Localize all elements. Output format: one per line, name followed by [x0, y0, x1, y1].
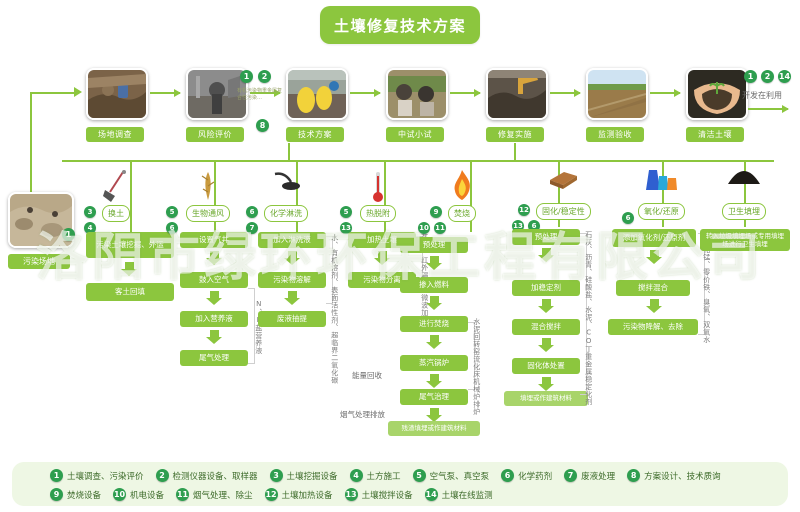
technique-2-badge-b: 7 [246, 215, 258, 234]
legend-row-2: 9焚烧设备 10机电设备 11烟气处理、除尘 12土壤加热设备 13土壤搅拌设备… [50, 488, 505, 501]
sprinkler-icon [271, 170, 301, 204]
legend-badge-13: 13 [345, 488, 358, 501]
soil-pile-icon [726, 168, 762, 190]
flow-arrow-6-1 [646, 299, 662, 313]
technique-5[interactable]: 固化/稳定性 [536, 203, 591, 220]
legend-item-12: 12土壤加热设备 [265, 488, 333, 501]
process-label-6: 清洁土壤 [686, 127, 744, 142]
legend-item-4: 4土方施工 [350, 469, 401, 482]
technique-label-1: 生物通风 [186, 205, 230, 222]
arrow-0-1 [150, 92, 180, 94]
flow-5-2: 混合搅拌 [512, 319, 580, 335]
badge-reuse-2: 2 [761, 70, 774, 83]
flow-arrow-3-0 [374, 251, 390, 265]
bus-feed-from-repair [288, 143, 290, 161]
technique-1-side-note: N、P盐营养液 [254, 300, 262, 355]
legend-text-6: 化学药剂 [518, 470, 552, 482]
legend-badge-9: 9 [50, 488, 63, 501]
flow-7-0: 转入垃圾填埋场或专用填埋场进行卫生填埋 [700, 229, 790, 251]
legend-text-1: 土壤调查、污染评价 [67, 470, 144, 482]
process-step-6[interactable]: 清洁土壤 [686, 68, 744, 142]
badge-6d: 6 [622, 212, 634, 224]
technique-label-5: 固化/稳定性 [536, 203, 591, 220]
legend-badge-11: 11 [176, 488, 189, 501]
flow-2-2: 废液抽提 [258, 311, 326, 327]
flow-0-1: 客土回填 [86, 283, 174, 301]
process-label-0: 场地调查 [86, 127, 144, 142]
page-title: 土壤修复技术方案 [320, 6, 480, 44]
legend-badge-5: 5 [413, 469, 426, 482]
flow-arrow-1-2 [206, 330, 222, 344]
polluted-site[interactable]: 污染场地 [8, 192, 70, 269]
legend-item-1: 1土壤调查、污染评价 [50, 469, 144, 482]
legend-badge-4: 4 [350, 469, 363, 482]
flow-arrow-5-1 [538, 299, 554, 313]
flow-arrow-5-2 [538, 338, 554, 352]
diagram-canvas: 土壤修复技术方案 场地调查 风险评价 1 2 有机污染物重金属复合性污染… 8 … [0, 0, 800, 512]
reuse-label: 开发在利用 [742, 90, 782, 101]
legend-item-8: 8方案设计、技术质询 [627, 469, 721, 482]
technique-4-note-gas: 烟气处理排放 [340, 409, 385, 420]
technique-2[interactable]: 化学淋洗 [264, 205, 308, 222]
flow-arrow-1-1 [206, 291, 222, 305]
legend-badge-3: 3 [270, 469, 283, 482]
flow-0-0: 污染土壤挖掘、外运 [86, 232, 174, 258]
process-thumb-6 [686, 68, 748, 120]
technique-6[interactable]: 氧化/还原 [638, 203, 685, 220]
legend-row-1: 1土壤调查、污染评价 2检测仪器设备、取样器 3土壤挖掘设备 4土方施工 5空气… [50, 469, 733, 482]
badge-6: 6 [166, 222, 178, 234]
flow-arrow-4-0 [426, 256, 442, 270]
flow-arrow-2-1 [284, 291, 300, 305]
technique-4-badge-b: 10 [418, 215, 430, 234]
flow-5-4: 填埋或作建筑材料 [504, 391, 588, 406]
process-thumb-4 [486, 68, 548, 120]
flow-arrow-4-3 [426, 374, 442, 388]
badge-reuse-14: 14 [778, 70, 791, 83]
flow-2-0: 加入淋洗液 [258, 232, 326, 248]
arrow-head-site [74, 87, 82, 97]
badge-note-1: 1 [240, 70, 253, 83]
technique-1[interactable]: 生物通风 [186, 205, 230, 222]
flow-6-1: 搅拌混合 [616, 280, 690, 296]
process-thumb-5 [586, 68, 648, 120]
arrow-3-4 [450, 92, 480, 94]
process-label-2: 技术方案 [286, 127, 344, 142]
flow-arrow-2-0 [284, 251, 300, 265]
legend-badge-7: 7 [564, 469, 577, 482]
legend-text-13: 土壤搅拌设备 [362, 489, 413, 501]
flow-4-3: 蒸汽锅炉 [400, 355, 468, 371]
legend-badge-8: 8 [627, 469, 640, 482]
legend-badge-10: 10 [113, 488, 126, 501]
legend-item-5: 5空气泵、真空泵 [413, 469, 490, 482]
legend-item-6: 6化学药剂 [501, 469, 552, 482]
flame-icon [451, 170, 473, 204]
process-note-text: 有机污染物重金属复合性污染… [237, 88, 283, 101]
flow-4-4: 尾气治理 [400, 389, 468, 405]
legend-item-13: 13土壤搅拌设备 [345, 488, 413, 501]
flow-5-0: 预处理 [512, 229, 580, 245]
process-note-badge-8: 8 [256, 113, 269, 132]
flow-arrow-5-3 [538, 377, 554, 391]
process-step-1[interactable]: 风险评价 [186, 68, 244, 142]
flow-1-2: 加入营养液 [180, 311, 248, 327]
flow-arrow-5-0 [538, 248, 554, 262]
technique-5-side-note: 石灰、沥青、硅酸盐、水泥、CO丁重金属稳定化剂 [584, 231, 592, 406]
flow-6-0: 添加氧化剂/还原剂 [612, 229, 696, 247]
technique-2-side-note: 水、有机溶剂、表面活性剂、超临界二氧化碳 [330, 234, 338, 384]
process-label-3: 中试小试 [386, 127, 444, 142]
technique-label-2: 化学淋洗 [264, 205, 308, 222]
flow-5-3: 固化体处置 [512, 358, 580, 374]
flow-5-1: 加稳定剂 [512, 280, 580, 296]
legend-item-3: 3土壤挖掘设备 [270, 469, 338, 482]
process-thumb-2 [286, 68, 348, 120]
flow-2-1: 污染物溶解 [258, 272, 326, 288]
flow-arrow-4-2 [426, 335, 442, 349]
badge-note-2: 2 [258, 70, 271, 83]
legend-text-14: 土壤在线监测 [442, 489, 493, 501]
flow-arrow-1-0 [206, 251, 222, 265]
technique-4-note-energy: 能量回收 [352, 370, 382, 381]
technique-1-badge-b: 6 [166, 215, 178, 234]
flow-arrow-0-0 [121, 262, 137, 276]
process-note-badges-top: 1 2 [240, 70, 271, 83]
process-step-3[interactable]: 中试小试 [386, 68, 444, 142]
badge-10: 10 [418, 222, 430, 234]
legend-item-7: 7废液处理 [564, 469, 615, 482]
legend-text-4: 土方施工 [367, 470, 401, 482]
badge-note-8: 8 [256, 119, 269, 132]
technique-4-badge-c: 11 [434, 215, 446, 234]
flow-arrow-4-1 [426, 296, 442, 310]
legend-badge-6: 6 [501, 469, 514, 482]
site-label: 污染场地 [8, 254, 70, 269]
technique-3[interactable]: 热脱附 [360, 205, 396, 222]
process-label-5: 监测验收 [586, 127, 644, 142]
chemicals-icon [643, 168, 679, 196]
process-label-1: 风险评价 [186, 127, 244, 142]
root-icon [199, 170, 217, 206]
flow-arrow-4-4 [426, 408, 442, 422]
legend-item-11: 11烟气处理、除尘 [176, 488, 253, 501]
site-badge: 1 [62, 222, 75, 241]
legend-text-2: 检测仪器设备、取样器 [173, 470, 258, 482]
technique-4[interactable]: 焚烧 [448, 205, 476, 222]
flow-1-3: 尾气处理 [180, 350, 248, 366]
legend-panel: 1土壤调查、污染评价 2检测仪器设备、取样器 3土壤挖掘设备 4土方施工 5空气… [12, 462, 788, 506]
legend-text-8: 方案设计、技术质询 [644, 470, 721, 482]
arrow-5-6 [650, 92, 680, 94]
legend-badge-12: 12 [265, 488, 278, 501]
process-step-4[interactable]: 修复实施 [486, 68, 544, 142]
technique-4-side-note: 水泥回转窑流化床机械炉排炉 [472, 318, 480, 416]
legend-item-10: 10机电设备 [113, 488, 164, 501]
flow-6-2: 污染物降解、去除 [608, 319, 698, 335]
flow-arrow-6-0 [646, 250, 662, 264]
badge-11: 11 [434, 222, 446, 234]
technique-label-7: 卫生填埋 [722, 203, 766, 220]
process-step-0[interactable]: 场地调查 [86, 68, 144, 142]
process-step-2[interactable]: 技术方案 [286, 68, 344, 142]
arrow-4-5 [550, 92, 580, 94]
bus-feed-from-implement [514, 143, 516, 161]
legend-text-7: 废液处理 [581, 470, 615, 482]
legend-text-5: 空气泵、真空泵 [430, 470, 490, 482]
brick-icon [548, 168, 578, 194]
technique-label-6: 氧化/还原 [638, 203, 685, 220]
technique-label-0: 换土 [102, 205, 130, 222]
process-label-4: 修复实施 [486, 127, 544, 142]
legend-text-11: 烟气处理、除尘 [193, 489, 253, 501]
flow-4-5: 残渣填埋或作建筑材料 [388, 421, 480, 436]
connector-site-right [30, 92, 78, 94]
process-thumb-3 [386, 68, 448, 120]
technique-bus-line [62, 160, 774, 162]
badge-7: 7 [246, 222, 258, 234]
legend-text-10: 机电设备 [130, 489, 164, 501]
flow-1-0: 设置气井 [180, 232, 248, 248]
legend-text-9: 焚烧设备 [67, 489, 101, 501]
flow-1-1: 鼓入空气 [180, 272, 248, 288]
technique-7[interactable]: 卫生填埋 [722, 203, 766, 220]
legend-text-12: 土壤加热设备 [282, 489, 333, 501]
legend-item-2: 2检测仪器设备、取样器 [156, 469, 258, 482]
arrow-reuse [748, 108, 788, 110]
flow-4-1: 掺入燃料 [400, 277, 468, 293]
thermometer-icon [371, 170, 385, 208]
legend-badge-14: 14 [425, 488, 438, 501]
flow-4-0: 预处理 [400, 237, 468, 253]
shovel-icon [101, 170, 131, 206]
technique-6-badge-a: 6 [622, 205, 634, 224]
arrow-2-3 [350, 92, 380, 94]
legend-item-14: 14土壤在线监测 [425, 488, 493, 501]
legend-badge-2: 2 [156, 469, 169, 482]
connector-site-up [30, 92, 32, 192]
process-step-5[interactable]: 监测验收 [586, 68, 644, 142]
legend-text-3: 土壤挖掘设备 [287, 470, 338, 482]
legend-badge-1: 1 [50, 469, 63, 482]
badge-reuse-1: 1 [744, 70, 757, 83]
flow-4-2: 进行焚烧 [400, 316, 468, 332]
technique-0[interactable]: 换土 [102, 205, 130, 222]
technique-label-4: 焚烧 [448, 205, 476, 222]
legend-item-9: 9焚烧设备 [50, 488, 101, 501]
process-thumb-0 [86, 68, 148, 120]
badge-site-1: 1 [62, 228, 75, 241]
reuse-badges: 1 2 14 [744, 70, 791, 83]
